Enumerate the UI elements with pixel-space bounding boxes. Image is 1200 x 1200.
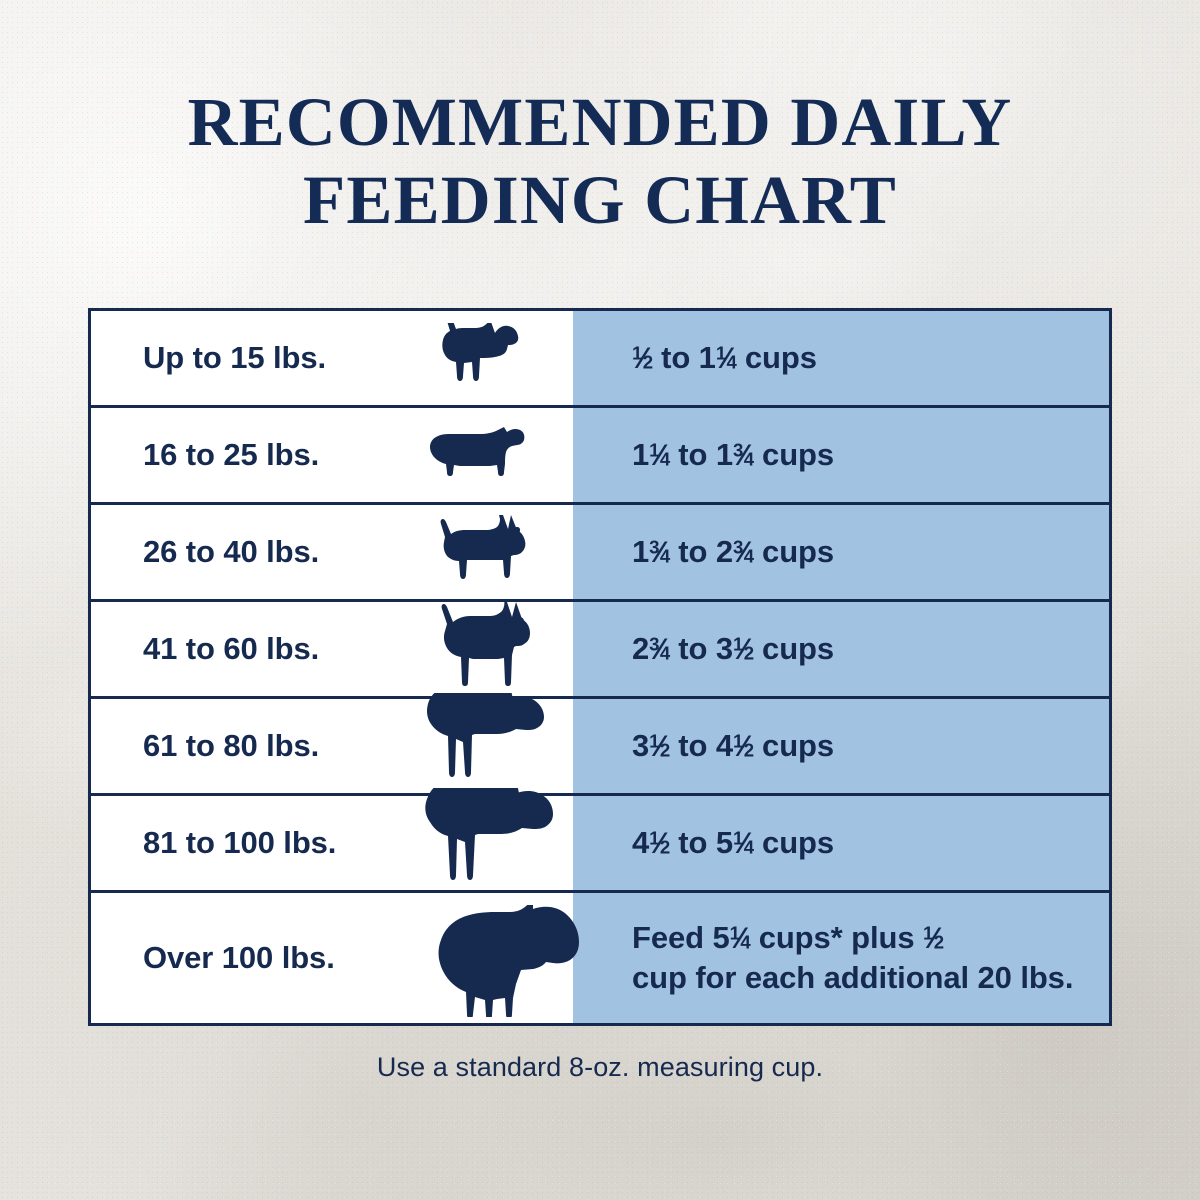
table-row: Up to 15 lbs. 1⁄2 to 11⁄4 cups [91,311,1109,408]
fraction-three-quarters: 3⁄4 [733,532,754,572]
weight-cell: Over 100 lbs. [91,893,573,1023]
fraction-one-half: 1⁄2 [923,918,944,958]
fraction-one-half: 1⁄2 [733,726,754,766]
feeding-chart-table: Up to 15 lbs. 1⁄2 to 11⁄4 cups 16 to 25 … [88,308,1112,1026]
weight-label: 41 to 60 lbs. [143,631,319,667]
weight-label: 61 to 80 lbs. [143,728,319,764]
weight-cell: 81 to 100 lbs. [91,796,573,890]
weight-label: 16 to 25 lbs. [143,437,319,473]
table-row: 81 to 100 lbs. 41⁄2 to 51⁄4 cups [91,796,1109,893]
amount-line-1: Feed 51⁄4 cups* plus 1⁄2 [632,918,1073,958]
fraction-one-quarter: 1⁄4 [733,823,754,863]
weight-label: 81 to 100 lbs. [143,825,336,861]
large-rottweiler-silhouette [421,788,555,886]
amount-text: 13⁄4 to 23⁄4 cups [632,532,834,572]
amount-cell: 31⁄2 to 41⁄2 cups [573,699,1109,793]
boxer-silhouette [431,600,535,686]
fraction-one-half: 1⁄2 [649,823,670,863]
table-row: 61 to 80 lbs. 31⁄2 to 41⁄2 cups [91,699,1109,796]
fraction-one-half: 1⁄2 [649,726,670,766]
amount-cell: 13⁄4 to 23⁄4 cups [573,505,1109,599]
amount-text: 23⁄4 to 31⁄2 cups [632,629,834,669]
feeding-chart-page: RECOMMENDED DAILY FEEDING CHART Up to 15… [0,0,1200,1200]
weight-label: Up to 15 lbs. [143,340,326,376]
amount-line-2: cup for each additional 20 lbs. [632,958,1073,998]
weight-cell: 41 to 60 lbs. [91,602,573,696]
weight-cell: Up to 15 lbs. [91,311,573,405]
amount-text: Feed 51⁄4 cups* plus 1⁄2 cup for each ad… [632,918,1073,997]
weight-cell: 26 to 40 lbs. [91,505,573,599]
table-row: Over 100 lbs. Feed 51⁄4 cups* plus 1⁄2 c… [91,893,1109,1023]
fraction-three-quarters: 3⁄4 [649,532,670,572]
mastiff-silhouette [421,905,581,1017]
weight-label: Over 100 lbs. [143,940,335,976]
boston-terrier-silhouette [431,511,531,587]
amount-cell: 23⁄4 to 31⁄2 cups [573,602,1109,696]
amount-text: 1⁄2 to 11⁄4 cups [632,338,817,378]
amount-text: 11⁄4 to 13⁄4 cups [632,435,834,475]
amount-text: 31⁄2 to 41⁄2 cups [632,726,834,766]
fraction-one-half: 1⁄2 [632,338,653,378]
amount-cell: 41⁄2 to 51⁄4 cups [573,796,1109,890]
fraction-one-half: 1⁄2 [733,629,754,669]
weight-cell: 61 to 80 lbs. [91,699,573,793]
table-row: 16 to 25 lbs. 11⁄4 to 13⁄4 cups [91,408,1109,505]
weight-cell: 16 to 25 lbs. [91,408,573,502]
weight-label: 26 to 40 lbs. [143,534,319,570]
fraction-one-quarter: 1⁄4 [716,338,737,378]
page-title-line-2: FEEDING CHART [0,162,1200,240]
fraction-three-quarters: 3⁄4 [649,629,670,669]
page-title-line-1: RECOMMENDED DAILY [0,84,1200,162]
amount-text: 41⁄2 to 51⁄4 cups [632,823,834,863]
fraction-one-quarter: 1⁄4 [649,435,670,475]
small-terrier-silhouette [433,323,519,391]
amount-cell: Feed 51⁄4 cups* plus 1⁄2 cup for each ad… [573,893,1109,1023]
table-row: 41 to 60 lbs. 23⁄4 to 31⁄2 cups [91,602,1109,699]
fraction-one-quarter: 1⁄4 [730,918,751,958]
dachshund-silhouette [429,426,525,484]
table-row: 26 to 40 lbs. 13⁄4 to 23⁄4 cups [91,505,1109,602]
fraction-three-quarters: 3⁄4 [733,435,754,475]
rottweiler-silhouette [423,693,545,785]
amount-cell: 11⁄4 to 13⁄4 cups [573,408,1109,502]
amount-cell: 1⁄2 to 11⁄4 cups [573,311,1109,405]
page-title: RECOMMENDED DAILY FEEDING CHART [0,84,1200,240]
footnote-text: Use a standard 8-oz. measuring cup. [0,1052,1200,1083]
